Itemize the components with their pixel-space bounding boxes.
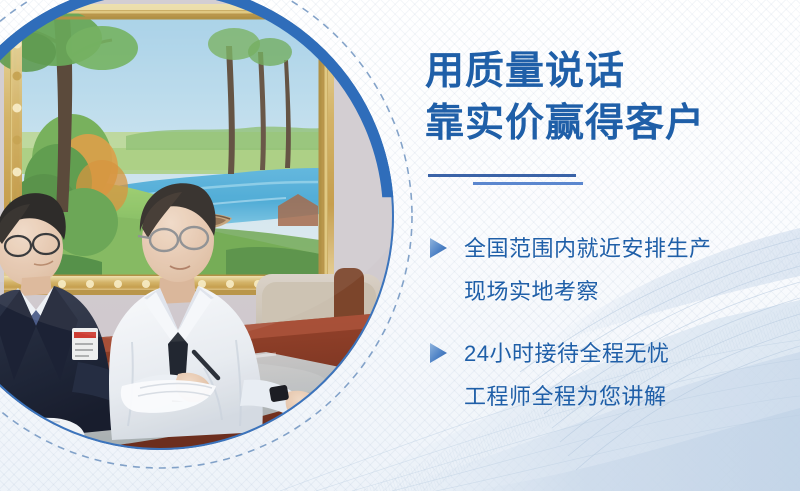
- arrow-right-icon: [427, 341, 449, 365]
- headline-line-2: 靠实价赢得客户: [425, 98, 800, 150]
- bullet-main-text: 24小时接待全程无忧: [464, 342, 669, 365]
- bullet-sub-text: 现场实地考察: [464, 280, 800, 303]
- feature-bullet-list: 全国范围内就近安排生产 现场实地考察: [425, 236, 800, 436]
- bullet-main-text: 全国范围内就近安排生产: [464, 237, 712, 260]
- banner-text-column: 用质量说话 靠实价赢得客户: [425, 0, 800, 491]
- headline: 用质量说话 靠实价赢得客户: [425, 46, 800, 150]
- divider-line-lower: [473, 182, 583, 185]
- office-meeting-photo: [0, 0, 394, 450]
- divider: [425, 174, 725, 196]
- list-item: 24小时接待全程无忧 工程师全程为您讲解: [425, 341, 800, 408]
- divider-line-upper: [428, 174, 576, 177]
- arrow-right-icon: [427, 236, 449, 260]
- photo-medallion: [0, 0, 420, 476]
- list-item: 全国范围内就近安排生产 现场实地考察: [425, 236, 800, 303]
- photo-illustration: [0, 0, 394, 450]
- bullet-sub-text: 工程师全程为您讲解: [464, 385, 800, 408]
- promotional-banner: 用质量说话 靠实价赢得客户: [0, 0, 800, 491]
- headline-line-1: 用质量说话: [425, 50, 625, 93]
